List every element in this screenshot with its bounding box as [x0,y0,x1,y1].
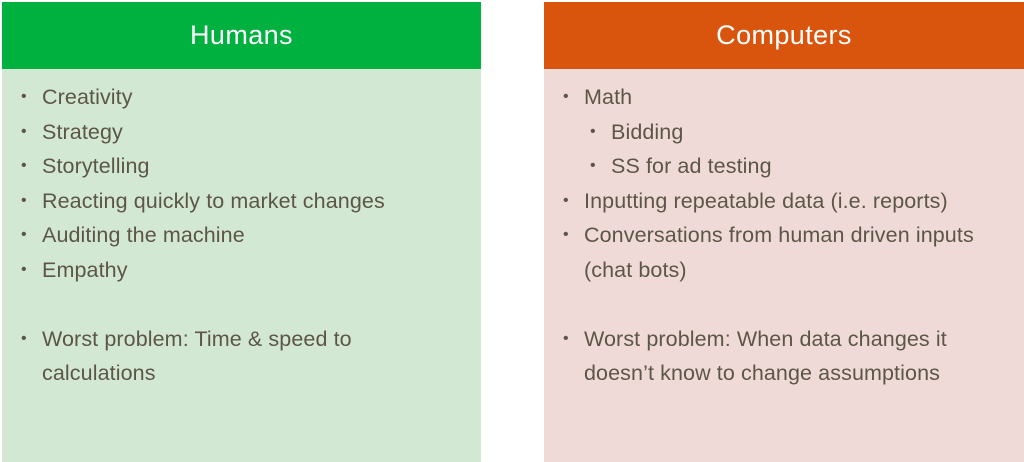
list-item-worst-problem: Worst problem: Time & speed to calculati… [16,322,467,391]
list-item-label: Storytelling [42,154,150,178]
list-item-label: Reacting quickly to market changes [42,189,385,213]
list-item-label: Bidding [611,120,683,144]
list-item-label: Inputting repeatable data (i.e. reports) [584,189,948,213]
list-item-label: Worst problem: Time & speed to calculati… [42,327,352,386]
list-item: Storytelling [16,149,467,184]
list-item: Creativity [16,80,467,115]
list-item-label: Empathy [42,258,128,282]
column-humans: Humans Creativity Strategy Storytelling … [2,2,481,462]
list-item: Conversations from human driven inputs (… [558,218,1010,287]
column-humans-title: Humans [190,20,293,51]
list-item: Auditing the machine [16,218,467,253]
comparison-slide: Humans Creativity Strategy Storytelling … [0,0,1024,462]
column-humans-header: Humans [2,2,481,69]
column-computers-body: Math Bidding SS for ad testing Inputting… [544,69,1024,462]
list-item-sub: SS for ad testing [558,149,1010,184]
list-item-sub: Bidding [558,115,1010,150]
column-humans-bullet-list: Creativity Strategy Storytelling Reactin… [16,80,467,391]
column-computers-bullet-list: Math Bidding SS for ad testing Inputting… [558,80,1010,391]
column-computers-header: Computers [544,2,1024,69]
list-item: Strategy [16,115,467,150]
list-item-label: Conversations from human driven inputs (… [584,223,974,282]
list-item: Empathy [16,253,467,288]
list-item-label: Strategy [42,120,123,144]
list-item-worst-problem: Worst problem: When data changes it does… [558,322,1010,391]
column-humans-body: Creativity Strategy Storytelling Reactin… [2,69,481,462]
list-item-label: Math [584,85,632,109]
list-item-label: SS for ad testing [611,154,772,178]
list-item-label: Auditing the machine [42,223,245,247]
column-computers: Computers Math Bidding SS for ad testing… [544,2,1024,462]
list-item-label: Worst problem: When data changes it does… [584,327,947,386]
list-item: Math [558,80,1010,115]
list-item: Inputting repeatable data (i.e. reports) [558,184,1010,219]
list-item-label: Creativity [42,85,133,109]
list-item: Reacting quickly to market changes [16,184,467,219]
column-computers-title: Computers [716,20,852,51]
